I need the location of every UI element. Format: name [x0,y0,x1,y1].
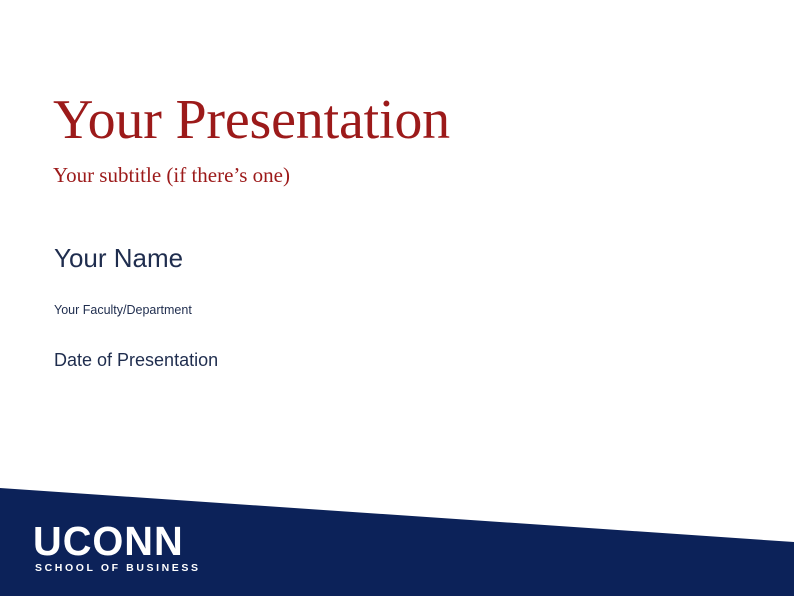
title-text-block: Your Presentation Your subtitle (if ther… [53,92,733,371]
page-title: Your Presentation [53,92,733,149]
title-slide: Your Presentation Your subtitle (if ther… [0,0,794,596]
presenter-department: Your Faculty/Department [54,303,733,318]
uconn-wordmark: UCONN [33,524,276,558]
presenter-name: Your Name [54,244,733,273]
presentation-date: Date of Presentation [54,350,733,372]
page-subtitle: Your subtitle (if there’s one) [53,163,733,188]
uconn-logo: UCONN SCHOOL OF BUSINESS [33,524,283,574]
